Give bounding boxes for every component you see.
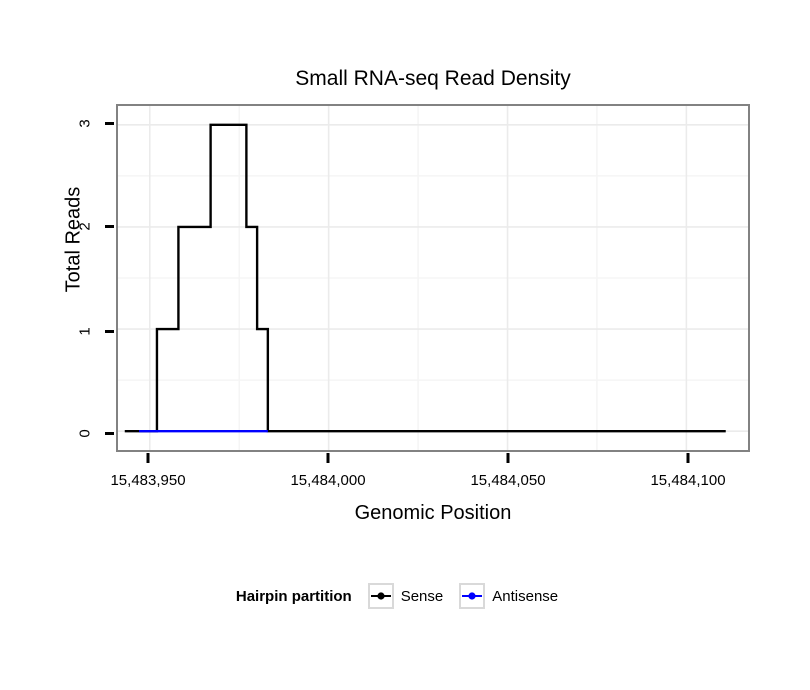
legend-title: Hairpin partition	[236, 588, 352, 605]
y-tick-mark-1	[105, 330, 114, 333]
legend-key-sense-icon	[368, 583, 394, 609]
x-tick-mark-2	[507, 453, 510, 463]
y-tick-label-0: 0	[77, 419, 94, 449]
plot-area	[118, 106, 748, 450]
x-tick-label-0: 15,483,950	[110, 472, 185, 489]
x-tick-label-2: 15,484,050	[470, 472, 545, 489]
chart-title: Small RNA-seq Read Density	[116, 66, 750, 92]
y-tick-mark-2	[105, 225, 114, 228]
legend-label-antisense: Antisense	[492, 588, 558, 605]
x-tick-label-3: 15,484,100	[650, 472, 725, 489]
y-tick-mark-3	[105, 122, 114, 125]
y-tick-label-1: 1	[77, 317, 94, 347]
x-tick-label-1: 15,484,000	[290, 472, 365, 489]
legend-label-sense: Sense	[401, 588, 444, 605]
x-tick-mark-1	[327, 453, 330, 463]
legend-key-antisense-icon	[459, 583, 485, 609]
y-tick-label-2: 2	[77, 212, 94, 242]
x-tick-mark-3	[687, 453, 690, 463]
x-tick-mark-0	[147, 453, 150, 463]
y-tick-mark-0	[105, 432, 114, 435]
chart-figure: Small RNA-seq Read Density Total Reads G…	[0, 0, 810, 690]
legend: Hairpin partition Sense Antisense	[0, 583, 810, 609]
minor-gridlines	[118, 106, 748, 450]
y-tick-label-3: 3	[77, 109, 94, 139]
x-axis-title: Genomic Position	[116, 502, 750, 525]
legend-entry-sense[interactable]: Sense	[368, 583, 444, 609]
plot-panel	[116, 104, 750, 452]
legend-entry-antisense[interactable]: Antisense	[459, 583, 558, 609]
